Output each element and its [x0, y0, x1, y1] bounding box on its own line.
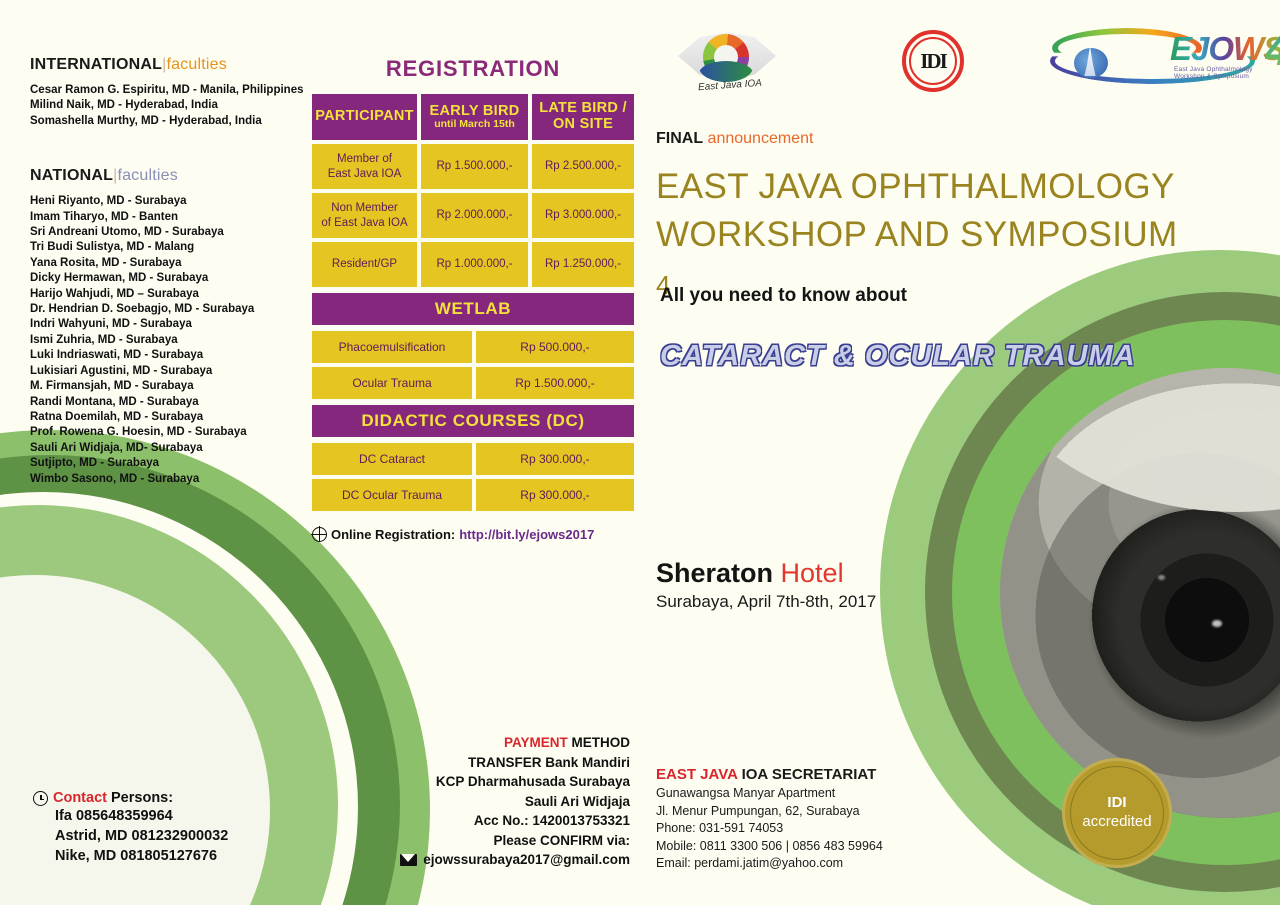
- table-row: Resident/GP Rp 1.000.000,- Rp 1.250.000,…: [312, 242, 634, 287]
- envelope-icon: [400, 854, 417, 866]
- didactic-band-title: DIDACTIC COURSES (DC): [312, 405, 634, 437]
- cell-participant-line1: Member of: [337, 152, 392, 166]
- international-faculties-list: Cesar Ramon G. Espiritu, MD - Manila, Ph…: [30, 83, 300, 129]
- table-row: Member of East Java IOA Rp 1.500.000,- R…: [312, 144, 634, 189]
- national-heading-main: NATIONAL: [30, 167, 113, 184]
- secretariat-line: Jl. Menur Pumpungan, 62, Surabaya: [656, 803, 883, 821]
- list-item: Ifa 085648359964: [55, 806, 228, 826]
- cell-participant-line1: Non Member: [331, 201, 397, 215]
- list-item: Indri Wahyuni, MD - Surabaya: [30, 317, 300, 332]
- list-item: Cesar Ramon G. Espiritu, MD - Manila, Ph…: [30, 83, 300, 98]
- secretariat-line: Gunawangsa Manyar Apartment: [656, 785, 883, 803]
- eye-photo: [1000, 368, 1280, 818]
- eye-glint-primary: [1212, 620, 1222, 627]
- page-title-line2: WORKSHOP AND SYMPOSIUM: [656, 215, 1178, 254]
- table-row: Phacoemulsification Rp 500.000,-: [312, 331, 634, 363]
- column-header-late-bird-line2: ON SITE: [553, 117, 613, 133]
- secretariat-line: Email: perdami.jatim@yahoo.com: [656, 855, 883, 873]
- list-item: Somashella Murthy, MD - Hyderabad, India: [30, 114, 300, 129]
- cell-participant: Member of East Java IOA: [312, 144, 417, 189]
- list-item: Luki Indriaswati, MD - Surabaya: [30, 348, 300, 363]
- column-header-early-bird: EARLY BIRD until March 15th: [421, 94, 528, 140]
- list-item: Ismi Zuhria, MD - Surabaya: [30, 333, 300, 348]
- payment-email[interactable]: ejowssurabaya2017@gmail.com: [423, 850, 630, 870]
- contact-label-rest: Persons:: [107, 790, 173, 806]
- page-topic: CATARACT & OCULAR TRAUMA: [660, 340, 1136, 373]
- idi-accredited-badge: IDI accredited: [1062, 758, 1172, 868]
- national-faculties-heading: NATIONAL|faculties: [30, 167, 300, 185]
- wetlab-table: Phacoemulsification Rp 500.000,- Ocular …: [312, 331, 634, 399]
- list-item: Ratna Doemilah, MD - Surabaya: [30, 410, 300, 425]
- final-announcement-bold: FINAL: [656, 130, 703, 147]
- cell-dc-name: DC Ocular Trauma: [312, 479, 472, 511]
- cell-participant-line2: East Java IOA: [328, 167, 402, 181]
- international-heading-main: INTERNATIONAL: [30, 56, 162, 73]
- payment-line: TRANSFER Bank Mandiri: [330, 753, 630, 773]
- cell-wetlab-price: Rp 500.000,-: [476, 331, 634, 363]
- online-registration-label: Online Registration:: [331, 527, 455, 542]
- cell-participant-line1: Resident/GP: [332, 257, 397, 271]
- cell-early-price: Rp 1.000.000,-: [421, 242, 528, 287]
- eye-glint-secondary: [1158, 575, 1165, 580]
- column-header-early-bird-sub: until March 15th: [434, 119, 515, 130]
- idi-badge-line1: IDI: [1107, 794, 1126, 813]
- international-heading-sub: faculties: [166, 56, 227, 73]
- venue-date: Surabaya, April 7th-8th, 2017: [656, 592, 876, 612]
- list-item: Imam Tiharyo, MD - Banten: [30, 210, 300, 225]
- national-heading-sub: faculties: [117, 167, 178, 184]
- cell-participant: Non Member of East Java IOA: [312, 193, 417, 238]
- payment-line: KCP Dharmahusada Surabaya: [330, 772, 630, 792]
- column-header-participant: PARTICIPANT: [312, 94, 417, 140]
- secretariat-heading-red: EAST JAVA: [656, 766, 737, 783]
- list-item: Tri Budi Sulistya, MD - Malang: [30, 240, 300, 255]
- payment-title: PAYMENT METHOD: [330, 733, 630, 753]
- venue-block: Sheraton Hotel Surabaya, April 7th-8th, …: [656, 558, 876, 612]
- page-title-line1: EAST JAVA OPHTHALMOLOGY: [656, 163, 1196, 211]
- contact-persons-heading: Contact Persons:: [33, 790, 228, 806]
- idi-badge-line2: accredited: [1082, 813, 1151, 832]
- list-item: Yana Rosita, MD - Surabaya: [30, 256, 300, 271]
- secretariat-line: Mobile: 0811 3300 506 | 0856 483 59964: [656, 838, 883, 856]
- payment-title-red: PAYMENT: [504, 735, 568, 750]
- national-faculties-list: Heni Riyanto, MD - Surabaya Imam Tiharyo…: [30, 194, 300, 487]
- secretariat-block: EAST JAVA IOA SECRETARIAT Gunawangsa Man…: [656, 766, 883, 873]
- cell-dc-price: Rp 300.000,-: [476, 443, 634, 475]
- final-announcement-rest: announcement: [703, 130, 813, 147]
- national-faculties-block: NATIONAL|faculties Heni Riyanto, MD - Su…: [30, 167, 300, 487]
- faculties-panel: INTERNATIONAL|faculties Cesar Ramon G. E…: [30, 56, 300, 487]
- venue-hotel-bold: Sheraton: [656, 558, 773, 588]
- payment-line: Please CONFIRM via:: [330, 831, 630, 851]
- list-item: Wimbo Sasono, MD - Surabaya: [30, 472, 300, 487]
- contact-label-red: Contact: [53, 790, 107, 806]
- column-header-late-bird-line1: LATE BIRD /: [539, 101, 627, 117]
- table-row: Non Member of East Java IOA Rp 2.000.000…: [312, 193, 634, 238]
- ejows-tagline: East Java Ophthalmology Workshop & Sympo…: [1174, 66, 1262, 80]
- didactic-table: DC Cataract Rp 300.000,- DC Ocular Traum…: [312, 443, 634, 511]
- contact-persons-block: Contact Persons: Ifa 085648359964 Astrid…: [33, 790, 228, 866]
- list-item: Lukisiari Agustini, MD - Surabaya: [30, 364, 300, 379]
- cell-dc-name: DC Cataract: [312, 443, 472, 475]
- contact-persons-list: Ifa 085648359964 Astrid, MD 081232900032…: [55, 806, 228, 866]
- payment-line: Sauli Ari Widjaja: [330, 792, 630, 812]
- list-item: Astrid, MD 081232900032: [55, 826, 228, 846]
- list-item: Dr. Hendrian D. Soebagjo, MD - Surabaya: [30, 302, 300, 317]
- clock-icon: [33, 791, 48, 806]
- wetlab-band-title: WETLAB: [312, 293, 634, 325]
- table-row: DC Ocular Trauma Rp 300.000,-: [312, 479, 634, 511]
- column-header-participant-label: PARTICIPANT: [315, 109, 414, 125]
- cell-wetlab-name: Phacoemulsification: [312, 331, 472, 363]
- column-header-early-bird-label: EARLY BIRD: [429, 104, 519, 120]
- venue-hotel: Sheraton Hotel: [656, 558, 876, 589]
- secretariat-line: Phone: 031-591 74053: [656, 820, 883, 838]
- international-faculties-heading: INTERNATIONAL|faculties: [30, 56, 300, 74]
- secretariat-heading-rest: IOA SECRETARIAT: [737, 766, 876, 783]
- list-item: Milind Naik, MD - Hyderabad, India: [30, 98, 300, 113]
- list-item: Randi Montana, MD - Surabaya: [30, 395, 300, 410]
- logo-row: East Java IOA IDI EJOWS 4 East Java Opht…: [650, 22, 1260, 100]
- list-item: Nike, MD 081805127676: [55, 846, 228, 866]
- list-item: Sri Andreani Utomo, MD - Surabaya: [30, 225, 300, 240]
- ejows-logo: EJOWS 4 East Java Ophthalmology Workshop…: [1050, 24, 1262, 98]
- table-row: Ocular Trauma Rp 1.500.000,-: [312, 367, 634, 399]
- column-header-late-bird: LATE BIRD / ON SITE: [532, 94, 634, 140]
- registration-title: REGISTRATION: [312, 56, 634, 82]
- table-header-row: PARTICIPANT EARLY BIRD until March 15th …: [312, 94, 634, 140]
- cell-participant-line2: of East Java IOA: [321, 216, 407, 230]
- list-item: Sauli Ari Widjaja, MD- Surabaya: [30, 441, 300, 456]
- table-row: DC Cataract Rp 300.000,-: [312, 443, 634, 475]
- payment-method-block: PAYMENT METHOD TRANSFER Bank Mandiri KCP…: [330, 733, 630, 870]
- secretariat-heading: EAST JAVA IOA SECRETARIAT: [656, 766, 883, 783]
- brochure-page: INTERNATIONAL|faculties Cesar Ramon G. E…: [0, 0, 1280, 905]
- page-subtitle: All you need to know about: [660, 285, 907, 307]
- list-item: M. Firmansjah, MD - Surabaya: [30, 379, 300, 394]
- cell-dc-price: Rp 300.000,-: [476, 479, 634, 511]
- cell-early-price: Rp 2.000.000,-: [421, 193, 528, 238]
- list-item: Sutjipto, MD - Surabaya: [30, 456, 300, 471]
- payment-email-line[interactable]: ejowssurabaya2017@gmail.com: [330, 850, 630, 870]
- venue-hotel-red: Hotel: [773, 558, 844, 588]
- globe-icon: [312, 527, 327, 542]
- list-item: Heni Riyanto, MD - Surabaya: [30, 194, 300, 209]
- cell-wetlab-name: Ocular Trauma: [312, 367, 472, 399]
- registration-section: REGISTRATION PARTICIPANT EARLY BIRD unti…: [312, 56, 634, 542]
- idi-monogram-label: IDI: [920, 49, 946, 74]
- list-item: Prof. Rowena G. Hoesin, MD - Surabaya: [30, 425, 300, 440]
- payment-title-rest: METHOD: [568, 735, 630, 750]
- ejows-edition-number: 4: [1265, 26, 1280, 76]
- cell-participant: Resident/GP: [312, 242, 417, 287]
- cell-early-price: Rp 1.500.000,-: [421, 144, 528, 189]
- cell-late-price: Rp 1.250.000,-: [532, 242, 634, 287]
- cell-late-price: Rp 3.000.000,-: [532, 193, 634, 238]
- ejows-wordmark: EJOWS: [1170, 30, 1280, 68]
- online-registration-line[interactable]: Online Registration: http://bit.ly/ejows…: [312, 527, 634, 542]
- ioa-logo-label: East Java IOA: [684, 77, 777, 94]
- cell-wetlab-price: Rp 1.500.000,-: [476, 367, 634, 399]
- final-announcement: FINAL announcement: [656, 130, 813, 148]
- list-item: Harijo Wahjudi, MD – Surabaya: [30, 287, 300, 302]
- east-java-ioa-logo: East Java IOA: [678, 28, 776, 100]
- registration-table: PARTICIPANT EARLY BIRD until March 15th …: [312, 94, 634, 287]
- online-registration-url[interactable]: http://bit.ly/ejows2017: [459, 527, 594, 542]
- payment-line: Acc No.: 1420013753321: [330, 811, 630, 831]
- idi-logo: IDI: [902, 30, 964, 92]
- list-item: Dicky Hermawan, MD - Surabaya: [30, 271, 300, 286]
- cell-late-price: Rp 2.500.000,-: [532, 144, 634, 189]
